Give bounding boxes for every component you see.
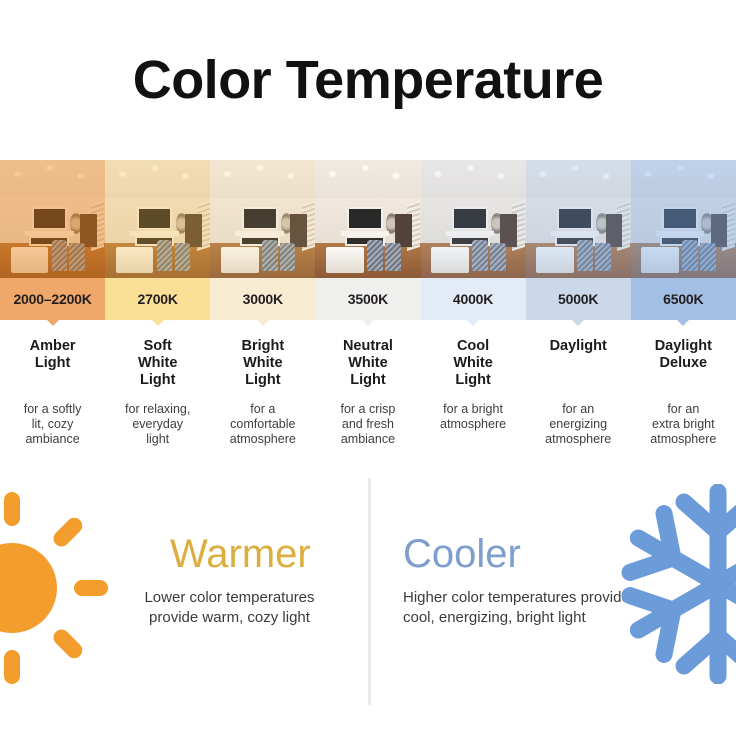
room-photo-3500K [315, 160, 420, 278]
kelvin-swatch: 6500K [631, 278, 736, 320]
kelvin-label: 3000K [210, 278, 315, 320]
light-type-description: for acomfortableatmosphere [215, 402, 310, 447]
kelvin-swatch: 3500K [315, 278, 420, 320]
cooler-description: Higher color temperatures provide cool, … [403, 588, 633, 627]
light-type-name: CoolWhiteLight [426, 338, 521, 390]
kelvin-label: 5000K [526, 278, 631, 320]
light-type-cell: DaylightDeluxefor anextra brightatmosphe… [631, 328, 736, 447]
swatch-notch [421, 320, 526, 328]
light-type-name: BrightWhiteLight [215, 338, 310, 390]
room-photo-4000K [421, 160, 526, 278]
kelvin-label: 4000K [421, 278, 526, 320]
room-photo-6500K [631, 160, 736, 278]
kelvin-label: 2000–2200K [0, 278, 105, 320]
light-type-description: for a softlylit, cozyambiance [5, 402, 100, 447]
sun-icon [0, 488, 112, 688]
swatch-notch-strip [0, 320, 736, 328]
kelvin-swatch: 3000K [210, 278, 315, 320]
light-type-name: NeutralWhiteLight [320, 338, 415, 390]
light-type-name: Daylight [531, 338, 626, 390]
light-type-description: for anextra brightatmosphere [636, 402, 731, 447]
room-photo-2700K [105, 160, 210, 278]
light-type-description: for a crispand freshambiance [320, 402, 415, 447]
swatch-notch [526, 320, 631, 328]
light-type-info-strip: AmberLightfor a softlylit, cozyambianceS… [0, 328, 736, 447]
notch-arrow [315, 320, 420, 328]
notch-arrow [526, 320, 631, 328]
light-type-name: AmberLight [5, 338, 100, 390]
light-type-cell: BrightWhiteLightfor acomfortableatmosphe… [210, 328, 315, 447]
room-photo-5000K [526, 160, 631, 278]
light-type-cell: Daylightfor anenergizingatmosphere [526, 328, 631, 447]
room-photo-strip [0, 160, 736, 278]
kelvin-swatch-strip: 2000–2200K2700K3000K3500K4000K5000K6500K [0, 278, 736, 320]
light-type-cell: SoftWhiteLightfor relaxing,everydaylight [105, 328, 210, 447]
kelvin-swatch: 5000K [526, 278, 631, 320]
kelvin-swatch: 2000–2200K [0, 278, 105, 320]
notch-arrow [210, 320, 315, 328]
cooler-panel: Cooler Higher color temperatures provide… [368, 478, 736, 714]
swatch-notch [631, 320, 736, 328]
warmer-panel: Warmer Lower color temperatures provide … [0, 478, 368, 714]
room-photo-20002200K [0, 160, 105, 278]
swatch-notch [210, 320, 315, 328]
warmer-description: Lower color temperatures provide warm, c… [122, 588, 337, 627]
notch-arrow [631, 320, 736, 328]
light-type-name: DaylightDeluxe [636, 338, 731, 390]
kelvin-swatch: 4000K [421, 278, 526, 320]
light-type-description: for anenergizingatmosphere [531, 402, 626, 447]
light-type-cell: CoolWhiteLightfor a brightatmosphere [421, 328, 526, 447]
light-type-description: for a brightatmosphere [426, 402, 521, 432]
kelvin-label: 2700K [105, 278, 210, 320]
light-type-name: SoftWhiteLight [110, 338, 205, 390]
notch-arrow [0, 320, 105, 328]
page-title: Color Temperature [133, 53, 604, 107]
title-bar: Color Temperature [0, 0, 736, 160]
notch-arrow [421, 320, 526, 328]
warmer-heading: Warmer [170, 534, 311, 574]
kelvin-label: 6500K [631, 278, 736, 320]
kelvin-swatch: 2700K [105, 278, 210, 320]
snowflake-icon [618, 484, 736, 684]
kelvin-label: 3500K [315, 278, 420, 320]
room-photo-3000K [210, 160, 315, 278]
swatch-notch [0, 320, 105, 328]
swatch-notch [315, 320, 420, 328]
notch-arrow [105, 320, 210, 328]
cooler-heading: Cooler [403, 534, 521, 574]
light-type-cell: NeutralWhiteLightfor a crispand freshamb… [315, 328, 420, 447]
light-type-cell: AmberLightfor a softlylit, cozyambiance [0, 328, 105, 447]
light-type-description: for relaxing,everydaylight [110, 402, 205, 447]
swatch-notch [105, 320, 210, 328]
warm-cool-comparison: Warmer Lower color temperatures provide … [0, 478, 736, 714]
